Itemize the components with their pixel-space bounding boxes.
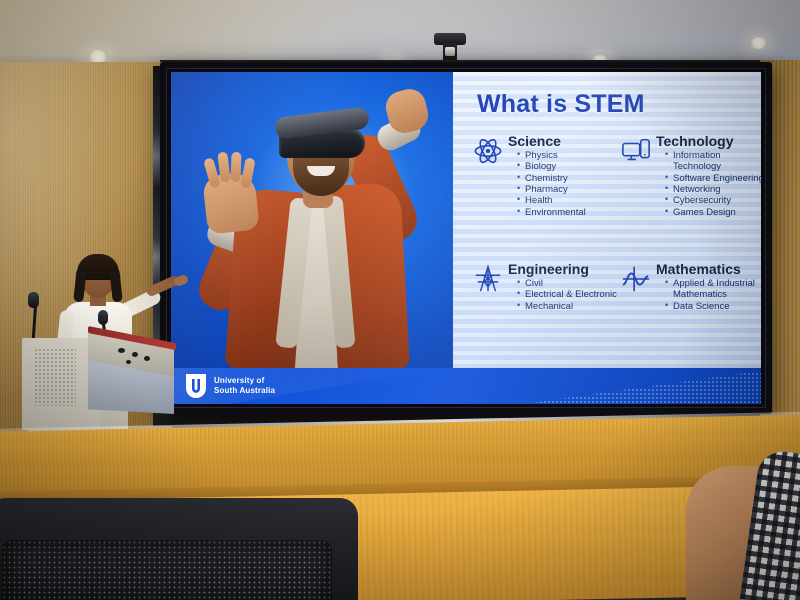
lecture-room-photo: What is STEM Science Ph bbox=[0, 0, 800, 600]
university-name-line1: University of bbox=[214, 376, 275, 386]
university-logo: University of South Australia bbox=[185, 373, 275, 399]
list-item: Civil bbox=[518, 278, 623, 289]
quadrant-list: Civil Electrical & Electronic Mechanical bbox=[508, 278, 623, 312]
quadrant-technology: Technology Information Technology Softwa… bbox=[621, 134, 761, 218]
devices-icon bbox=[621, 136, 651, 166]
university-name-line2: South Australia bbox=[214, 386, 275, 396]
presentation-display: What is STEM Science Ph bbox=[160, 62, 772, 414]
quadrant-science: Science Physics Biology Chemistry Pharma… bbox=[473, 134, 623, 218]
speaker-grille bbox=[34, 348, 76, 406]
podium-control-button[interactable] bbox=[118, 348, 125, 353]
list-item: Networking bbox=[666, 184, 761, 195]
footer-halftone-pattern bbox=[431, 368, 761, 404]
list-item: Physics bbox=[518, 150, 623, 161]
list-item: Electrical & Electronic bbox=[518, 289, 623, 300]
unisa-shield-icon bbox=[185, 373, 207, 399]
microphone-icon bbox=[28, 292, 39, 308]
lectern-podium bbox=[22, 330, 170, 434]
slide-footer: University of South Australia bbox=[171, 368, 761, 404]
list-item: Applied & Industrial Mathematics bbox=[666, 278, 761, 301]
podium-control-button[interactable] bbox=[126, 360, 131, 364]
slide-title: What is STEM bbox=[477, 90, 645, 119]
list-item: Environmental bbox=[518, 207, 623, 218]
microphone-icon bbox=[98, 310, 108, 325]
list-item: Data Science bbox=[666, 301, 761, 312]
quadrant-list: Applied & Industrial Mathematics Data Sc… bbox=[656, 278, 761, 312]
list-item: Mechanical bbox=[518, 301, 623, 312]
list-item: Games Design bbox=[666, 207, 761, 218]
ceiling-downlight-icon bbox=[749, 37, 768, 49]
quadrant-engineering: Engineering Civil Electrical & Electroni… bbox=[473, 262, 623, 312]
list-item: Pharmacy bbox=[518, 184, 623, 195]
podium-control-button[interactable] bbox=[144, 356, 150, 361]
university-name: University of South Australia bbox=[214, 376, 275, 395]
ar-headset-man-illustration bbox=[171, 72, 453, 368]
quadrant-heading: Science bbox=[508, 134, 623, 149]
list-item: Chemistry bbox=[518, 173, 623, 184]
atom-icon bbox=[473, 136, 503, 166]
quadrant-heading: Technology bbox=[656, 134, 761, 149]
slide-content-panel: What is STEM Science Ph bbox=[453, 72, 761, 368]
sine-wave-icon bbox=[621, 264, 651, 294]
slide-what-is-stem: What is STEM Science Ph bbox=[171, 72, 761, 404]
pylon-icon bbox=[473, 264, 503, 294]
list-item: Health bbox=[518, 195, 623, 206]
quadrant-list: Information Technology Software Engineer… bbox=[656, 150, 761, 218]
podium-control-button[interactable] bbox=[132, 352, 138, 357]
quadrant-heading: Engineering bbox=[508, 262, 623, 277]
list-item: Software Engineering bbox=[666, 173, 761, 184]
quadrant-list: Physics Biology Chemistry Pharmacy Healt… bbox=[508, 150, 623, 218]
list-item: Cybersecurity bbox=[666, 195, 761, 206]
quadrant-heading: Mathematics bbox=[656, 262, 761, 277]
audience-member-arm bbox=[686, 452, 800, 600]
slide-photo-ar-headset bbox=[171, 72, 453, 368]
list-item: Biology bbox=[518, 161, 623, 172]
list-item: Information Technology bbox=[666, 150, 761, 173]
mesh-chair bbox=[0, 498, 358, 600]
eyeglasses-icon bbox=[81, 272, 115, 280]
quadrant-mathematics: Mathematics Applied & Industrial Mathema… bbox=[621, 262, 761, 312]
